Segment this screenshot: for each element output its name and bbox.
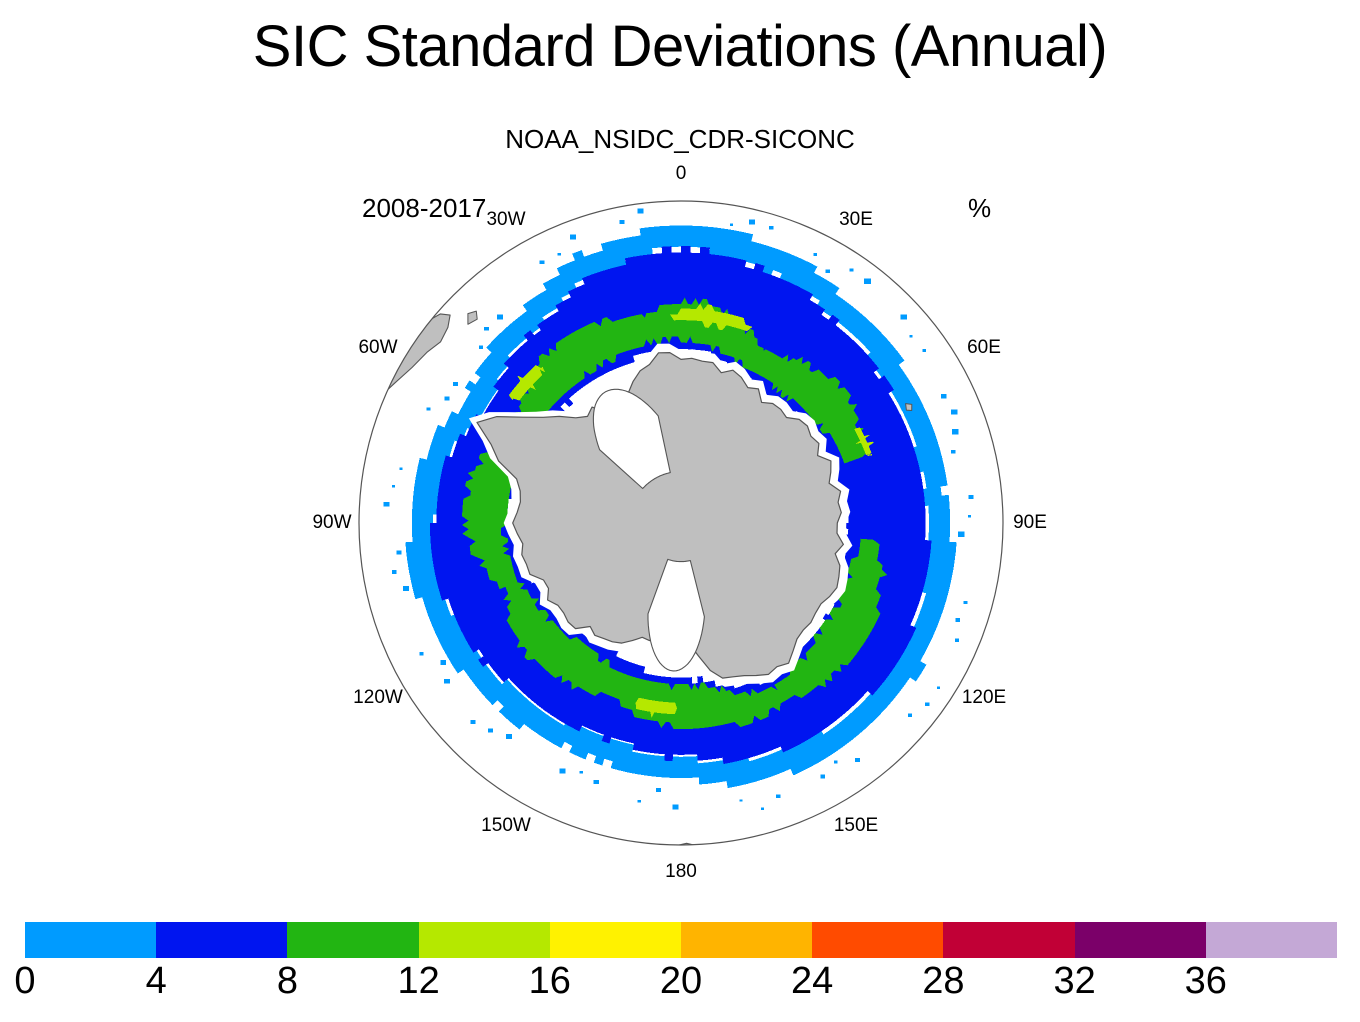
sic-speckle: [908, 714, 912, 718]
sic-speckle: [396, 551, 401, 555]
sic-speckle: [761, 808, 764, 810]
sic-speckle: [909, 335, 912, 338]
lon-label-0: 0: [676, 163, 687, 185]
sic-speckle: [901, 314, 907, 319]
kerguelen-island: [906, 404, 912, 411]
sic-speckle: [453, 382, 458, 386]
lon-label-30e: 30E: [839, 209, 873, 231]
colorbar-tick-0: 0: [14, 958, 35, 1004]
sic-speckle: [506, 734, 512, 739]
colorbar-band-8[interactable]: [1075, 922, 1206, 958]
sic-speckle: [426, 408, 430, 411]
lon-label-60w: 60W: [358, 337, 397, 359]
polar-map: 030E60E90E120E150E180150W120W90W60W30W: [0, 0, 1360, 900]
sic-speckle: [834, 761, 837, 764]
colorbar-tick-20: 20: [660, 958, 702, 1004]
sic-speckle: [776, 795, 780, 799]
sic-speckle: [445, 397, 450, 401]
sic-speckle: [820, 774, 825, 778]
sic-speckle: [637, 208, 643, 213]
lon-label-30w: 30W: [486, 209, 525, 231]
sic-speckle: [593, 780, 599, 784]
lon-label-120e: 120E: [962, 687, 1006, 709]
sic-speckle: [673, 805, 679, 810]
sic-speckle: [969, 495, 974, 499]
lon-label-60e: 60E: [967, 337, 1001, 359]
sic-speckle: [559, 769, 565, 774]
lon-label-90w: 90W: [312, 512, 351, 534]
sic-speckle: [570, 234, 576, 239]
sic-speckle: [922, 349, 926, 352]
sic-speckle: [955, 618, 960, 622]
colorbar-band-9[interactable]: [1206, 922, 1337, 958]
colorbar-band-0[interactable]: [25, 922, 156, 958]
sic-speckle: [951, 450, 956, 454]
sic-speckle: [580, 771, 583, 774]
sic-speckle: [638, 800, 641, 803]
sic-speckle: [497, 315, 503, 320]
colorbar-tick-24: 24: [791, 958, 833, 1004]
colorbar-tick-8: 8: [277, 958, 298, 1004]
sic-speckle: [749, 220, 755, 225]
sic-speckle: [937, 687, 940, 690]
lon-label-180: 180: [665, 861, 697, 883]
sic-speckle: [951, 409, 957, 414]
colorbar-tick-32: 32: [1053, 958, 1095, 1004]
sic-speckle: [941, 394, 947, 398]
colorbar-tick-28: 28: [922, 958, 964, 1004]
colorbar-band-6[interactable]: [812, 922, 943, 958]
sic-speckle: [656, 788, 661, 792]
sic-speckle: [952, 429, 959, 434]
map-canvas: [0, 0, 1360, 900]
colorbar-tick-labels: 04812162024283236: [0, 958, 1360, 1008]
sic-speckle: [392, 570, 397, 574]
sic-speckle: [420, 652, 424, 655]
colorbar-band-2[interactable]: [287, 922, 418, 958]
sic-speckle: [470, 720, 475, 724]
sic-speckle: [558, 253, 561, 256]
sic-speckle: [392, 485, 395, 487]
colorbar-band-1[interactable]: [156, 922, 287, 958]
sic-speckle: [730, 224, 733, 227]
lon-label-90e: 90E: [1013, 512, 1047, 534]
colorbar-tick-12: 12: [397, 958, 439, 1004]
lon-label-120w: 120W: [353, 687, 403, 709]
sic-speckle: [963, 601, 967, 604]
sic-speckle: [814, 253, 818, 256]
new-zealand-tip: [673, 843, 705, 859]
colorbar-band-3[interactable]: [419, 922, 550, 958]
colorbar-band-7[interactable]: [943, 922, 1074, 958]
sic-speckle: [540, 260, 545, 264]
colorbar-band-5[interactable]: [681, 922, 812, 958]
colorbar-tick-36: 36: [1185, 958, 1227, 1004]
sic-speckle: [740, 799, 743, 801]
sic-speckle: [620, 220, 625, 224]
sic-speckle: [403, 586, 409, 591]
sic-speckle: [488, 728, 493, 732]
sic-speckle: [484, 327, 489, 331]
colorbar[interactable]: [25, 922, 1337, 958]
sic-speckle: [855, 758, 860, 762]
sic-speckle: [440, 660, 446, 665]
sic-speckle: [479, 346, 483, 350]
colorbar-tick-4: 4: [146, 958, 167, 1004]
sic-speckle: [958, 531, 965, 537]
sic-speckle: [769, 226, 773, 229]
colorbar-band-4[interactable]: [550, 922, 681, 958]
sic-speckle: [850, 268, 854, 271]
sic-speckle: [955, 639, 959, 642]
sic-speckle: [400, 468, 403, 470]
sic-speckle: [444, 679, 450, 684]
sic-speckle: [925, 702, 930, 706]
sic-speckle: [826, 270, 830, 274]
lon-label-150w: 150W: [481, 815, 531, 837]
lon-label-150e: 150E: [834, 815, 878, 837]
colorbar-tick-16: 16: [529, 958, 571, 1004]
sic-speckle: [864, 279, 871, 285]
sic-speckle: [384, 502, 390, 507]
sic-speckle: [968, 515, 971, 517]
